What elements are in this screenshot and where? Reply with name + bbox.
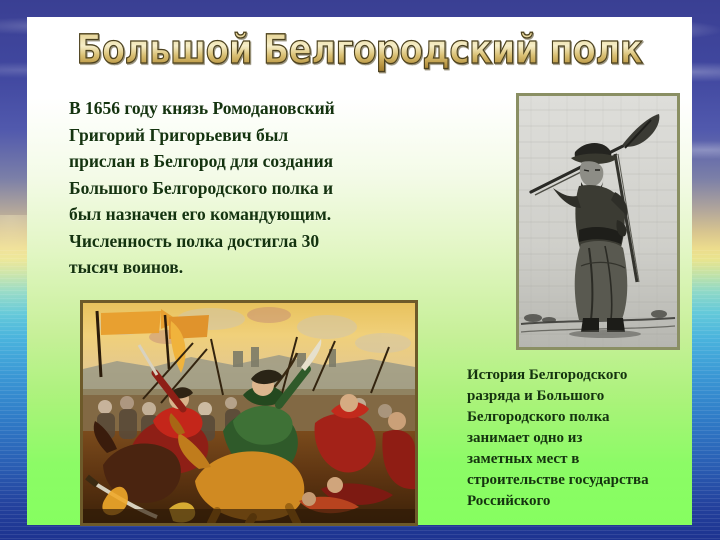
body-line: тысяч воинов. bbox=[69, 254, 464, 281]
body-line: Григорий Григорьевич был bbox=[69, 122, 464, 149]
slide-title: Большой Белгородский полк bbox=[27, 23, 692, 77]
body-line: Большого Белгородского полка и bbox=[69, 175, 464, 202]
caption-line: Белгородского полка bbox=[467, 407, 719, 428]
painting-artwork bbox=[83, 303, 415, 523]
body-line: В 1656 году князь Ромодановский bbox=[69, 95, 464, 122]
caption-line: разряда и Большого bbox=[467, 386, 719, 407]
body-line: был назначен его командующим. bbox=[69, 201, 464, 228]
engraving-artwork bbox=[519, 96, 677, 347]
caption-line: Российского bbox=[467, 491, 719, 512]
body-line: Численность полка достигла 30 bbox=[69, 228, 464, 255]
caption-line: заметных мест в bbox=[467, 449, 719, 470]
slide-content-panel: Большой Белгородский полк В 1656 году кн… bbox=[27, 17, 692, 525]
body-text-block: В 1656 году князь Ромодановский Григорий… bbox=[69, 95, 464, 281]
body-line: прислан в Белгород для создания bbox=[69, 148, 464, 175]
caption-line: строительстве государства bbox=[467, 470, 719, 491]
caption-line: История Белгородского bbox=[467, 365, 719, 386]
streltsy-musketeer-engraving bbox=[516, 93, 680, 350]
caption-line: занимает одно из bbox=[467, 428, 719, 449]
presentation-slide: Большой Белгородский полк В 1656 году кн… bbox=[0, 0, 720, 540]
battle-scene-painting bbox=[80, 300, 418, 526]
caption-text-block: История Белгородского разряда и Большого… bbox=[467, 365, 719, 512]
